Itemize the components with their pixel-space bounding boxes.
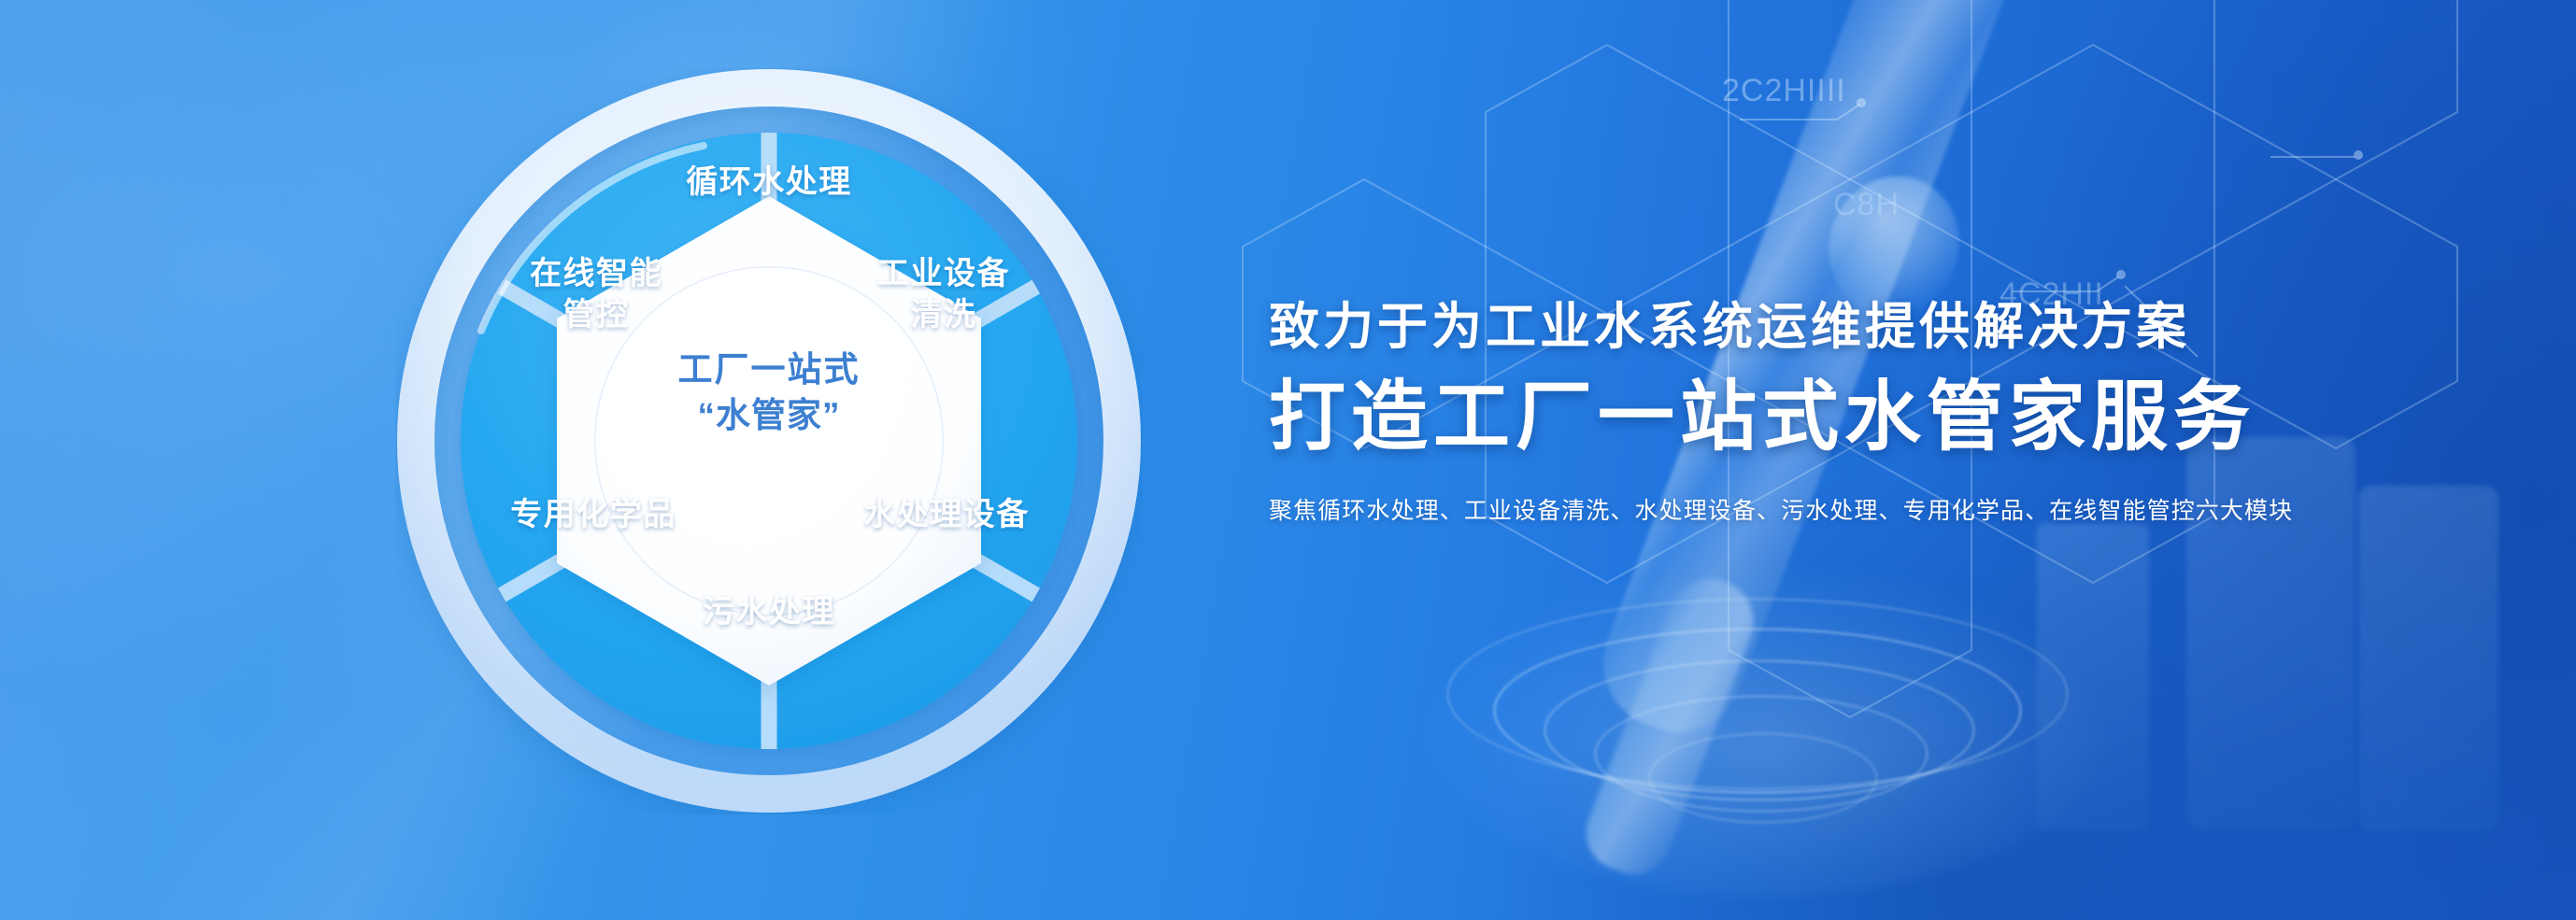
service-wheel-diagram: 循环水处理 工业设备 清洗 水处理设备 污水处理 专用化学品 在线智能 管控 工… <box>395 67 1143 814</box>
lab-bottle <box>2358 486 2498 831</box>
formula-label-1: 2C2HIIII <box>1722 73 1846 109</box>
hero-banner: 2C2HIIII C8H 4C2HII <box>0 0 2576 920</box>
wheel-center-line-2: “水管家” <box>636 393 902 439</box>
headline-block: 致力于为工业水系统运维提供解决方案 打造工厂一站式水管家服务 聚焦循环水处理、工… <box>1269 297 2278 528</box>
water-ripple <box>1648 732 1878 824</box>
wheel-center-label: 工厂一站式 “水管家” <box>636 347 902 439</box>
wheel-segment-label-circulating-water[interactable]: 循环水处理 <box>629 163 909 204</box>
wheel-center-line-1: 工厂一站式 <box>636 347 902 393</box>
headline-primary: 打造工厂一站式水管家服务 <box>1269 373 2278 463</box>
wheel-segment-label-equipment-cleaning[interactable]: 工业设备 清洗 <box>818 254 1070 335</box>
tagline-text: 聚焦循环水处理、工业设备清洗、水处理设备、污水处理、专用化学品、在线智能管控六大… <box>1269 495 2278 528</box>
wheel-segment-label-online-smart-control[interactable]: 在线智能 管控 <box>470 254 722 335</box>
formula-label-2: C8H <box>1833 187 1900 223</box>
wheel-segment-label-water-treatment-equipment[interactable]: 水处理设备 <box>806 495 1087 536</box>
wheel-segment-label-specialty-chemicals[interactable]: 专用化学品 <box>453 495 733 536</box>
wheel-segment-label-sewage-treatment[interactable]: 污水处理 <box>629 592 909 633</box>
lab-bottle <box>2037 523 2149 831</box>
headline-secondary: 致力于为工业水系统运维提供解决方案 <box>1269 297 2278 358</box>
